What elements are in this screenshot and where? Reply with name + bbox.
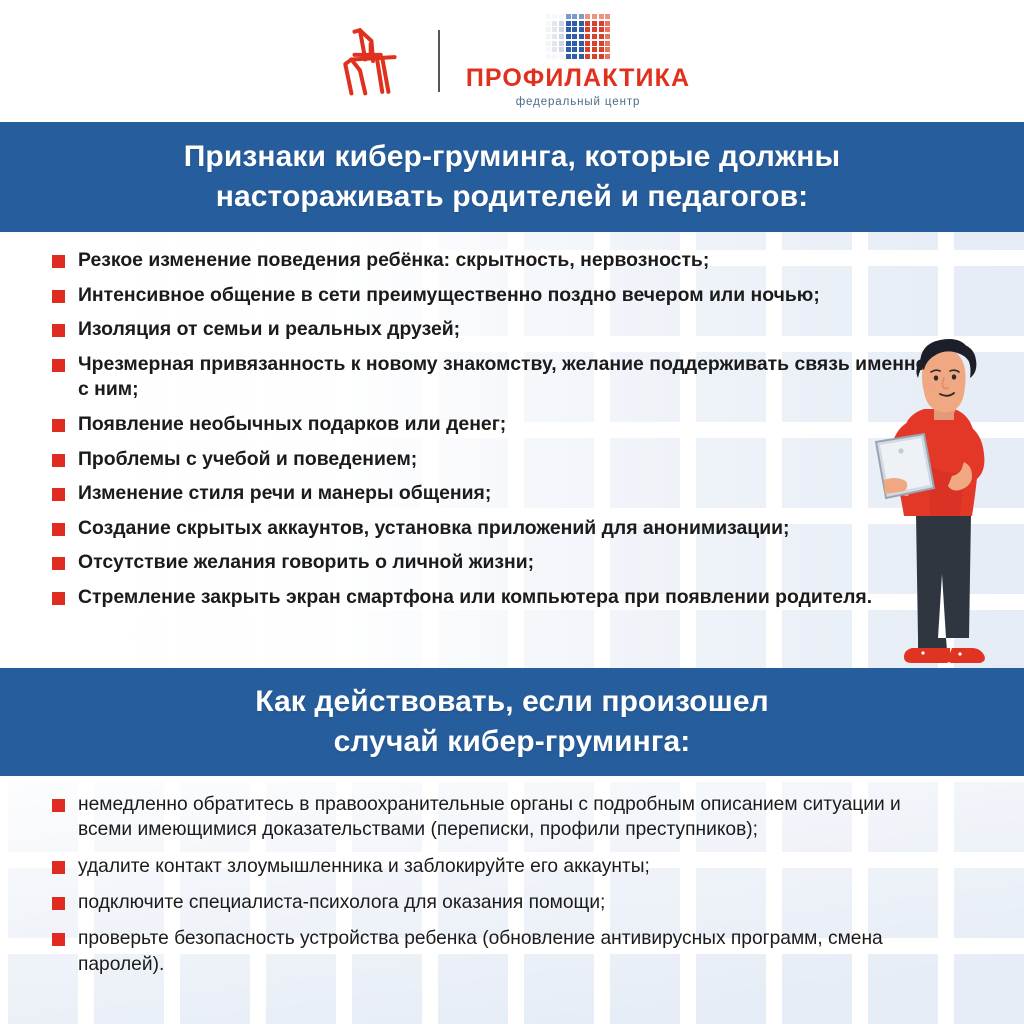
section-1-title-line-2: настораживать родителей и педагогов: xyxy=(216,177,808,217)
list-item: удалите контакт злоумышленника и заблоки… xyxy=(52,854,964,879)
brand-grid-cell xyxy=(605,27,610,32)
brand-grid-cell xyxy=(552,14,557,19)
brand-grid-cell xyxy=(546,27,551,32)
brand-grid-cell xyxy=(546,41,551,46)
list-item-text: Изоляция от семьи и реальных друзей; xyxy=(78,317,460,343)
section-2-title-line-1: Как действовать, если произошел xyxy=(255,682,769,722)
list-item: проверьте безопасность устройства ребенк… xyxy=(52,926,964,977)
square-bullet-icon xyxy=(52,523,65,536)
brand-grid-cell xyxy=(592,34,597,39)
brand-grid-cell xyxy=(559,41,564,46)
brand-grid-cell xyxy=(599,34,604,39)
brand-grid-cell xyxy=(599,14,604,19)
square-bullet-icon xyxy=(52,454,65,467)
brand-grid-cell xyxy=(599,21,604,26)
square-bullet-icon xyxy=(52,557,65,570)
brand-grid-cell xyxy=(579,14,584,19)
list-item: Проблемы с учебой и поведением; xyxy=(52,447,964,473)
brand-grid-cell xyxy=(592,41,597,46)
brand-grid-cell xyxy=(559,54,564,59)
brand-grid-cell xyxy=(566,27,571,32)
brand-grid-cell xyxy=(552,34,557,39)
brand-grid-cell xyxy=(592,47,597,52)
brand-grid-cell xyxy=(585,21,590,26)
brand-grid-cell xyxy=(585,54,590,59)
list-item-text: Изменение стиля речи и манеры общения; xyxy=(78,481,491,507)
brand-grid-cell xyxy=(566,41,571,46)
square-bullet-icon xyxy=(52,419,65,432)
list-item-text: немедленно обратитесь в правоохранительн… xyxy=(78,792,938,843)
brand-name: ПРОФИЛАКТИКА xyxy=(466,66,690,91)
square-bullet-icon xyxy=(52,255,65,268)
brand-grid-cell xyxy=(552,54,557,59)
brand-grid-cell xyxy=(572,41,577,46)
list-item-text: Проблемы с учебой и поведением; xyxy=(78,447,417,473)
list-item-text: Интенсивное общение в сети преимуществен… xyxy=(78,283,820,309)
brand-grid-cell xyxy=(605,47,610,52)
teen-boy-with-tablet-illustration xyxy=(868,338,1018,668)
list-item: Создание скрытых аккаунтов, установка пр… xyxy=(52,516,964,542)
square-bullet-icon xyxy=(52,488,65,501)
brand-grid-cell xyxy=(566,47,571,52)
brand-grid-cell xyxy=(585,34,590,39)
brand-grid-cell xyxy=(585,14,590,19)
list-item-text: Создание скрытых аккаунтов, установка пр… xyxy=(78,516,790,542)
brand-grid-cell xyxy=(566,14,571,19)
brand-grid-cell xyxy=(559,47,564,52)
brand-grid-cell xyxy=(546,54,551,59)
brand-grid-cell xyxy=(546,14,551,19)
list-item-text: Чрезмерная привязанность к новому знаком… xyxy=(78,352,938,403)
brand-grid-cell xyxy=(605,34,610,39)
chair-logo-icon xyxy=(334,24,412,98)
list-item: Интенсивное общение в сети преимуществен… xyxy=(52,283,964,309)
square-bullet-icon xyxy=(52,799,65,812)
brand-grid-cell xyxy=(572,27,577,32)
brand-grid-cell xyxy=(572,54,577,59)
brand-grid-cell xyxy=(599,27,604,32)
brand-grid-cell xyxy=(559,21,564,26)
infographic-poster: ПРОФИЛАКТИКА федеральный центр Признаки … xyxy=(0,0,1024,1024)
list-item: подключите специалиста-психолога для ока… xyxy=(52,890,964,915)
header-logo-bar: ПРОФИЛАКТИКА федеральный центр xyxy=(0,0,1024,122)
brand-grid-cell xyxy=(572,47,577,52)
brand-grid-cell xyxy=(592,14,597,19)
brand-grid-cell xyxy=(546,47,551,52)
list-item: Изоляция от семьи и реальных друзей; xyxy=(52,317,964,343)
brand-grid-cell xyxy=(572,34,577,39)
square-bullet-icon xyxy=(52,592,65,605)
brand-grid-cell xyxy=(579,54,584,59)
list-item: Изменение стиля речи и манеры общения; xyxy=(52,481,964,507)
brand-grid-cell xyxy=(552,47,557,52)
brand-grid-cell xyxy=(605,14,610,19)
brand-grid-cell xyxy=(599,47,604,52)
brand-grid-cell xyxy=(605,41,610,46)
section-2-title-line-2: случай кибер-груминга: xyxy=(334,722,691,762)
brand-grid-cell xyxy=(579,34,584,39)
brand-grid-cell xyxy=(552,27,557,32)
list-item: Отсутствие желания говорить о личной жиз… xyxy=(52,550,964,576)
brand-grid-cell xyxy=(559,27,564,32)
brand-grid-cell xyxy=(566,54,571,59)
list-item: Чрезмерная привязанность к новому знаком… xyxy=(52,352,964,403)
square-bullet-icon xyxy=(52,933,65,946)
brand-grid-cell xyxy=(579,47,584,52)
brand-grid-cell xyxy=(585,47,590,52)
list-item-text: проверьте безопасность устройства ребенк… xyxy=(78,926,938,977)
brand-grid-cell xyxy=(592,21,597,26)
square-bullet-icon xyxy=(52,359,65,372)
brand-grid-cell xyxy=(566,21,571,26)
brand-grid-cell xyxy=(559,34,564,39)
brand-grid-cell xyxy=(566,34,571,39)
brand-grid-cell xyxy=(552,41,557,46)
section-1-title-banner: Признаки кибер-груминга, которые должны … xyxy=(0,122,1024,232)
square-bullet-icon xyxy=(52,897,65,910)
brand-subtitle: федеральный центр xyxy=(516,96,641,108)
brand-grid-cell xyxy=(546,21,551,26)
section-2-title-banner: Как действовать, если произошел случай к… xyxy=(0,668,1024,776)
list-item-text: удалите контакт злоумышленника и заблоки… xyxy=(78,854,650,879)
list-item: Резкое изменение поведения ребёнка: скры… xyxy=(52,248,964,274)
action-steps-list: немедленно обратитесь в правоохранительн… xyxy=(0,784,1024,988)
list-item-text: Стремление закрыть экран смартфона или к… xyxy=(78,585,872,611)
brand-grid-cell xyxy=(579,27,584,32)
brand-grid-cell xyxy=(579,21,584,26)
brand-grid-cell xyxy=(599,54,604,59)
brand-pixel-grid-icon xyxy=(546,14,610,59)
brand-grid-cell xyxy=(592,54,597,59)
brand-grid-cell xyxy=(585,27,590,32)
square-bullet-icon xyxy=(52,290,65,303)
brand-grid-cell xyxy=(585,41,590,46)
list-item-text: Появление необычных подарков или денег; xyxy=(78,412,506,438)
brand-grid-cell xyxy=(605,54,610,59)
list-item: Стремление закрыть экран смартфона или к… xyxy=(52,585,964,611)
section-1-title-line-1: Признаки кибер-груминга, которые должны xyxy=(184,137,841,177)
list-item-text: Резкое изменение поведения ребёнка: скры… xyxy=(78,248,709,274)
brand-lockup: ПРОФИЛАКТИКА федеральный центр xyxy=(466,14,690,108)
list-item: Появление необычных подарков или денег; xyxy=(52,412,964,438)
brand-grid-cell xyxy=(605,21,610,26)
square-bullet-icon xyxy=(52,324,65,337)
brand-grid-cell xyxy=(552,21,557,26)
brand-grid-cell xyxy=(559,14,564,19)
brand-grid-cell xyxy=(546,34,551,39)
square-bullet-icon xyxy=(52,861,65,874)
logo-divider xyxy=(438,30,440,92)
list-item-text: Отсутствие желания говорить о личной жиз… xyxy=(78,550,534,576)
list-item: немедленно обратитесь в правоохранительн… xyxy=(52,792,964,843)
list-item-text: подключите специалиста-психолога для ока… xyxy=(78,890,605,915)
brand-grid-cell xyxy=(599,41,604,46)
brand-grid-cell xyxy=(592,27,597,32)
brand-grid-cell xyxy=(572,21,577,26)
brand-grid-cell xyxy=(579,41,584,46)
brand-grid-cell xyxy=(572,14,577,19)
